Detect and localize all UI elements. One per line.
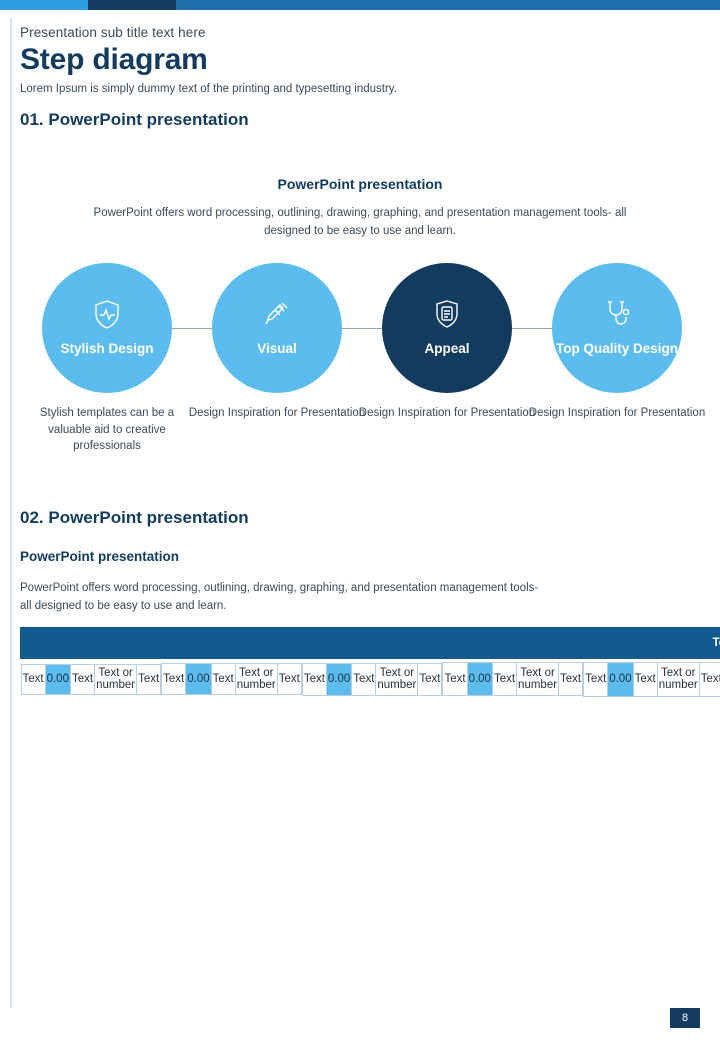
- table-row: Text0.00TextText or numberTextText0.00Te…: [21, 661, 720, 698]
- table-row: Text0.00TextText or numberTextText0.00Te…: [21, 660, 720, 698]
- step-caption-3: Design Inspiration for Presentation: [357, 405, 537, 422]
- top-bar-segment-dark: [88, 0, 176, 10]
- table-row: Text0.00TextText or numberTextText0.00Te…: [21, 663, 442, 695]
- step-label-2: Visual: [257, 341, 297, 358]
- diagram-title: PowerPoint presentation: [0, 176, 720, 192]
- table-header-cell: Text: [21, 628, 720, 659]
- table-cell: 0.00: [45, 664, 70, 694]
- step-node-4[interactable]: Top Quality Design: [552, 263, 682, 393]
- table-row: Text0.00TextText or numberTextText0.00Te…: [21, 664, 302, 695]
- table-cell: 0.00: [467, 663, 492, 696]
- table-cell: Text: [137, 664, 161, 694]
- top-bar-segment-medium: [176, 0, 720, 10]
- step-label-4: Top Quality Design: [556, 341, 678, 358]
- section-two-subheading: PowerPoint presentation: [20, 549, 179, 564]
- table-cell: Text: [277, 664, 301, 695]
- presentation-subtitle: Presentation sub title text here: [20, 25, 206, 40]
- step-diagram: Stylish Design Visual: [0, 263, 720, 395]
- step-label-3: Appeal: [424, 341, 469, 358]
- table-cell: Text: [211, 664, 235, 695]
- section-heading-two: 02. PowerPoint presentation: [20, 508, 249, 528]
- step-caption-2: Design Inspiration for Presentation: [187, 405, 367, 422]
- table-row: Text0.00TextText or numberTextText0.00Te…: [21, 662, 720, 696]
- table-cell: Text: [559, 663, 583, 696]
- table-cell: 0.00: [608, 662, 633, 696]
- step-circle-3[interactable]: Appeal: [382, 263, 512, 393]
- table-header-row: Text Number Text title Text title Text: [21, 628, 720, 659]
- top-color-bar: [0, 0, 720, 10]
- syringe-icon: [262, 298, 292, 335]
- table-cell: Text: [443, 663, 467, 696]
- table-cell: Text: [302, 663, 326, 695]
- table-row: Text0.00TextText or numberText: [21, 664, 161, 694]
- step-node-1[interactable]: Stylish Design: [42, 263, 172, 393]
- data-table: Text Number Text title Text title Text T…: [20, 627, 720, 700]
- table-cell: Text: [699, 662, 720, 696]
- table-row: Text0.00TextText or numberTextText0.00Te…: [21, 662, 720, 697]
- diagram-description: PowerPoint offers word processing, outli…: [80, 205, 640, 241]
- section-two-body: PowerPoint offers word processing, outli…: [20, 580, 550, 616]
- table-row: Text0.00TextText or numberTextText0.00Te…: [21, 661, 720, 697]
- stethoscope-icon: [603, 298, 631, 335]
- table-cell: Text: [162, 664, 186, 695]
- table-cell: Text or number: [235, 664, 277, 695]
- table-cell: Text or number: [376, 663, 418, 695]
- top-bar-segment-light: [0, 0, 88, 10]
- table-cell: Text or number: [657, 662, 699, 696]
- table-row: Text0.00TextText or numberTextText0.00Te…: [21, 659, 720, 700]
- table-cell: Text: [633, 662, 657, 696]
- table-cell: Text: [418, 663, 442, 695]
- table-cell: 0.00: [326, 663, 351, 695]
- step-circle-2[interactable]: Visual: [212, 263, 342, 393]
- step-node-3[interactable]: Appeal: [382, 263, 512, 393]
- heartbeat-shield-icon: [92, 298, 122, 335]
- page-title: Step diagram: [20, 43, 208, 77]
- table-cell: Text: [584, 662, 608, 696]
- table-cell: Text or number: [95, 664, 137, 694]
- table-cell: Text or number: [517, 663, 559, 696]
- step-circle-1[interactable]: Stylish Design: [42, 263, 172, 393]
- step-circle-4[interactable]: Top Quality Design: [552, 263, 682, 393]
- step-caption-1: Stylish templates can be a valuable aid …: [17, 405, 197, 455]
- table-row: Text0.00TextText or numberTextText0.00Te…: [21, 663, 583, 696]
- table-cell: Text: [352, 663, 376, 695]
- lorem-text: Lorem Ipsum is simply dummy text of the …: [20, 83, 397, 95]
- step-caption-4: Design Inspiration for Presentation: [527, 405, 707, 422]
- section-heading-one: 01. PowerPoint presentation: [20, 110, 249, 130]
- step-label-1: Stylish Design: [60, 341, 153, 358]
- table-cell: Text: [492, 663, 516, 696]
- table-row: Text0.00TextText or numberTextText0.00Te…: [21, 660, 720, 699]
- table-cell: 0.00: [186, 664, 211, 695]
- page-number-badge: 8: [670, 1008, 700, 1028]
- table-cell: Text: [21, 664, 45, 694]
- step-node-2[interactable]: Visual: [212, 263, 342, 393]
- left-accent-rule: [10, 18, 12, 1008]
- step-captions: Stylish templates can be a valuable aid …: [0, 405, 720, 465]
- table-cell: Text: [70, 664, 94, 694]
- clipboard-shield-icon: [433, 298, 461, 335]
